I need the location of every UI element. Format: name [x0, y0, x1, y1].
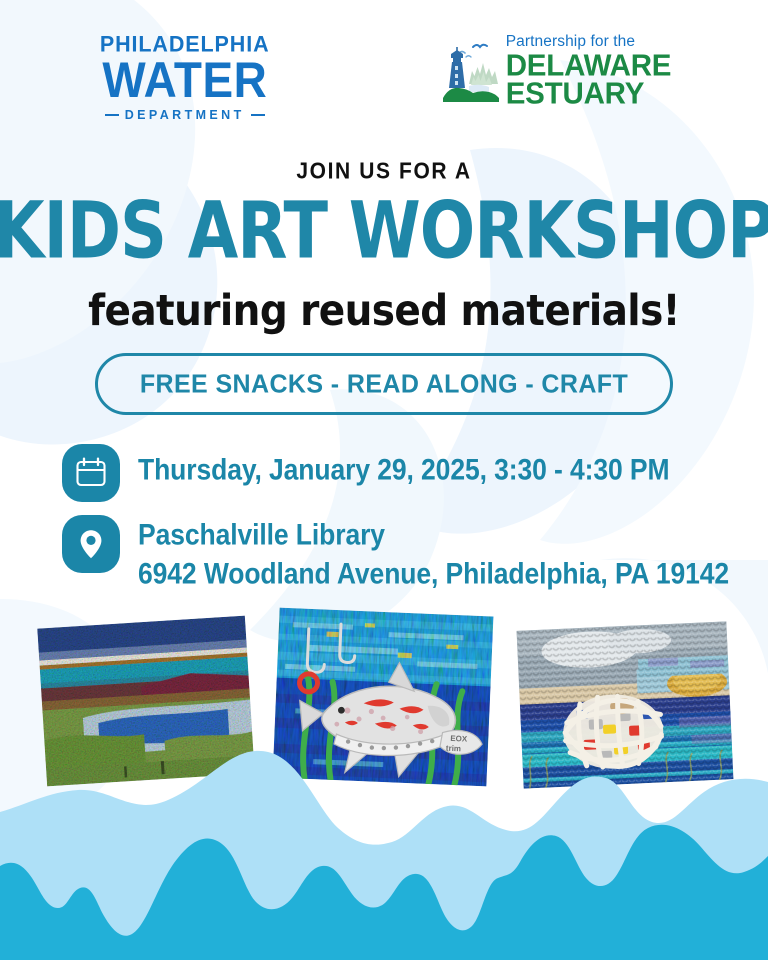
- pde-logo-line2: ESTUARY: [506, 79, 672, 109]
- map-pin-icon: [62, 515, 120, 573]
- event-details: Thursday, January 29, 2025, 3:30 - 4:30 …: [62, 444, 752, 602]
- event-flyer: PHILADELPHIA WATER DEPARTMENT: [0, 0, 768, 960]
- partnership-for-the-delaware-estuary-logo: Partnership for the DELAWARE ESTUARY: [443, 34, 672, 109]
- event-datetime: Thursday, January 29, 2025, 3:30 - 4:30 …: [138, 452, 669, 488]
- page-title: KIDS ART WORKSHOP: [0, 193, 768, 271]
- headline-block: JOIN US FOR A KIDS ART WORKSHOP featurin…: [0, 160, 768, 331]
- pwd-logo-line2: WATER: [102, 54, 267, 104]
- calendar-icon: [62, 444, 120, 502]
- page-subtitle: featuring reused materials!: [0, 290, 768, 333]
- features-badge: FREE SNACKS - READ ALONG - CRAFT: [95, 353, 673, 415]
- pde-logo-wordmark: Partnership for the DELAWARE ESTUARY: [506, 34, 672, 109]
- event-address: 6942 Woodland Avenue, Philadelphia, PA 1…: [138, 556, 729, 592]
- logo-row: PHILADELPHIA WATER DEPARTMENT: [0, 34, 768, 126]
- features-badge-label: FREE SNACKS - READ ALONG - CRAFT: [140, 369, 628, 399]
- bottom-wave-graphic: [0, 750, 768, 960]
- pwd-rule-left: [105, 114, 119, 117]
- pwd-logo-line3-wrap: DEPARTMENT: [105, 109, 265, 122]
- detail-text-datetime: Thursday, January 29, 2025, 3:30 - 4:30 …: [138, 444, 669, 485]
- pde-tagline: Partnership for the: [506, 34, 672, 50]
- pwd-rule-right: [251, 114, 265, 117]
- eyebrow-text: JOIN US FOR A: [0, 159, 768, 186]
- pwd-logo-line3: DEPARTMENT: [125, 109, 245, 122]
- detail-row-location: Paschalville Library 6942 Woodland Avenu…: [62, 515, 752, 589]
- detail-text-location: Paschalville Library 6942 Woodland Avenu…: [138, 515, 729, 589]
- event-venue: Paschalville Library: [138, 517, 729, 553]
- features-badge-wrap: FREE SNACKS - READ ALONG - CRAFT: [0, 353, 768, 415]
- lighthouse-icon: [443, 40, 499, 102]
- philadelphia-water-department-logo: PHILADELPHIA WATER DEPARTMENT: [97, 34, 273, 121]
- detail-row-datetime: Thursday, January 29, 2025, 3:30 - 4:30 …: [62, 444, 752, 502]
- svg-text:EOX: EOX: [450, 734, 468, 744]
